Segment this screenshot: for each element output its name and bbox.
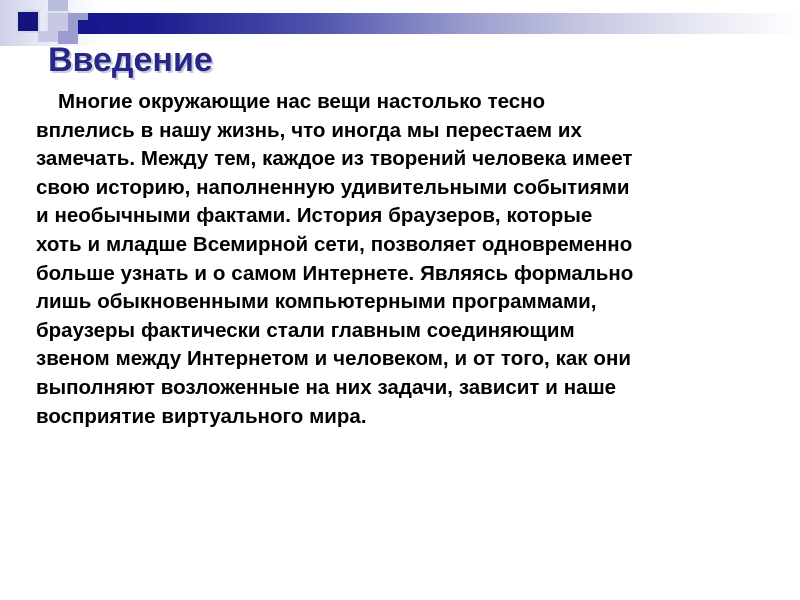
square-periwinkle-top <box>48 0 68 13</box>
header-gradient-bar <box>62 13 800 34</box>
page-title: Введение <box>48 41 213 80</box>
header-ornament <box>0 0 800 46</box>
slide-canvas: Введение Многие окружающие нас вещи наст… <box>0 0 800 600</box>
square-dark-navy <box>18 12 38 31</box>
body-paragraph: Многие окружающие нас вещи настолько тес… <box>36 88 636 431</box>
square-navy-right <box>78 20 100 34</box>
square-lavender-mid <box>48 13 68 32</box>
